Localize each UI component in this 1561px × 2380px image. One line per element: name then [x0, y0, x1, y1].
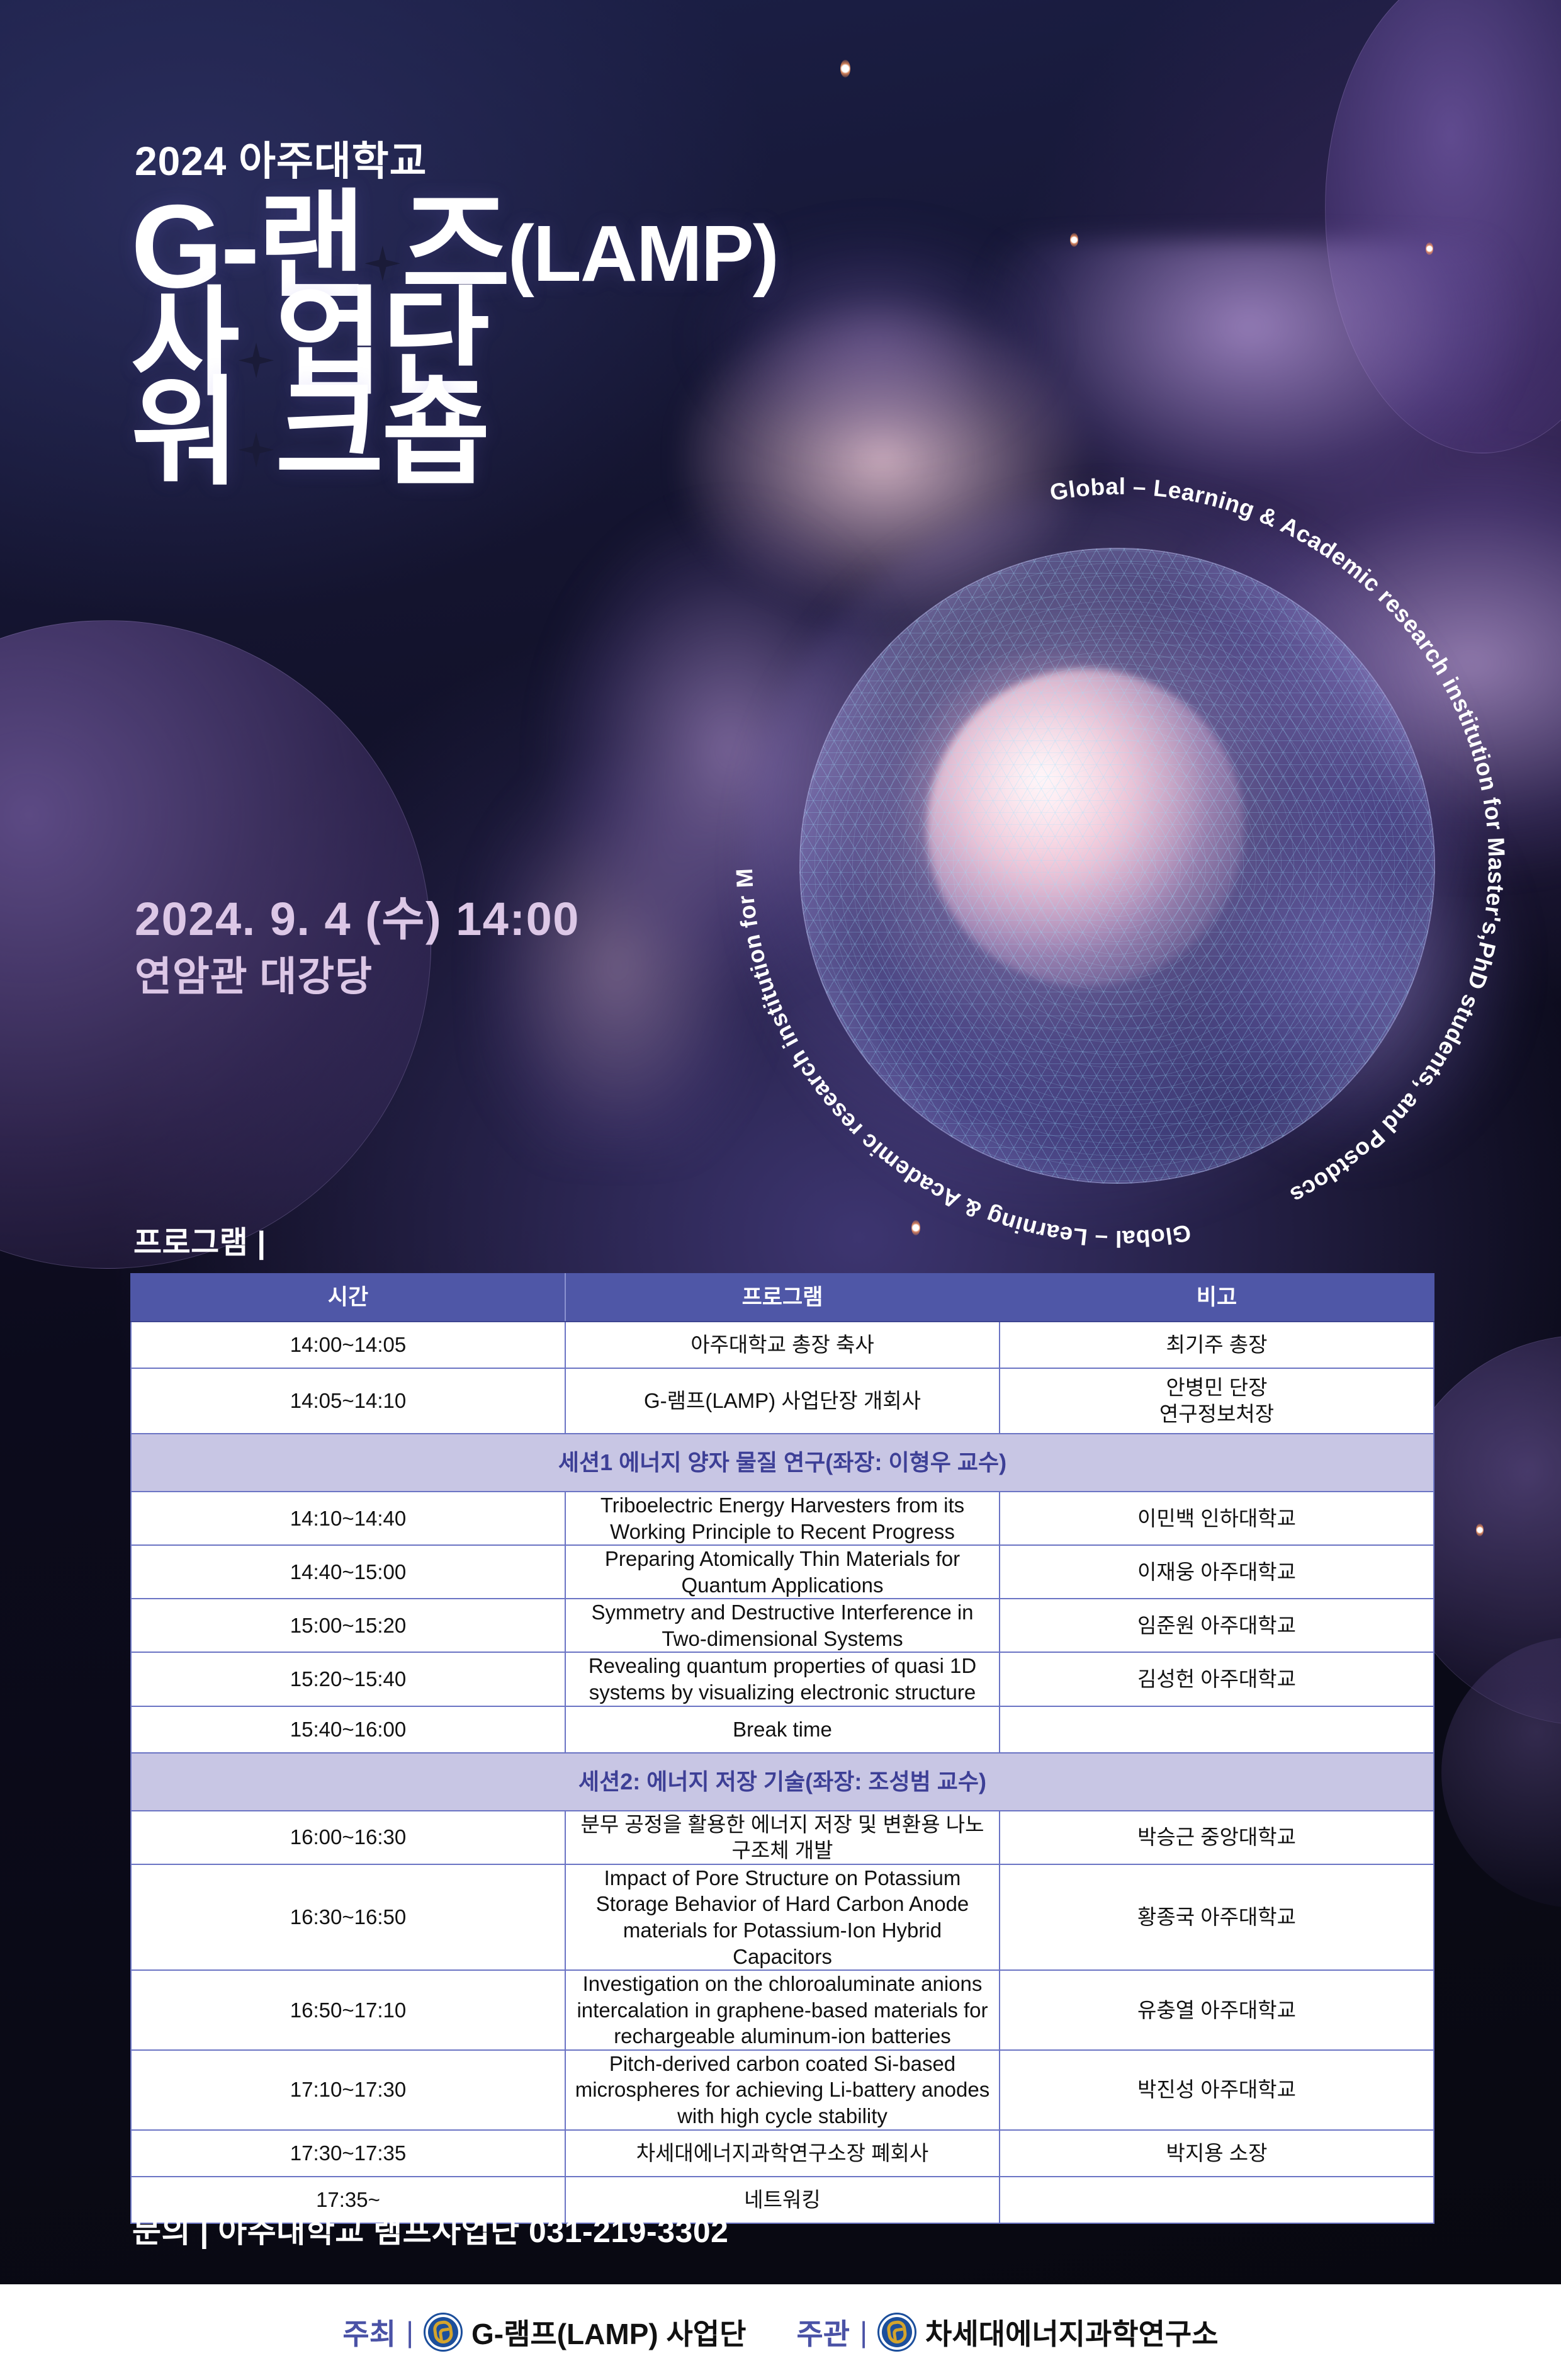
host-group: 주최 | G-램프(LAMP) 사업단: [342, 2311, 746, 2353]
program-table-head: 시간 프로그램 비고: [131, 1274, 1434, 1322]
organizer-label: 주관: [796, 2311, 850, 2353]
table-row: 15:20~15:40Revealing quantum properties …: [131, 1652, 1434, 1706]
session-header-row: 세션2: 에너지 저장 기술(좌장: 조성범 교수): [131, 1753, 1434, 1811]
table-row: 14:00~14:05아주대학교 총장 축사최기주 총장: [131, 1322, 1434, 1368]
title-line-3: 워크숍: [131, 388, 778, 477]
table-row: 17:30~17:35차세대에너지과학연구소장 폐회사박지용 소장: [131, 2130, 1434, 2177]
poster-main-title: G-랜즈(LAMP) 사업단 워크숍: [131, 201, 778, 477]
row-time: 14:00~14:05: [131, 1322, 565, 1368]
row-program: Preparing Atomically Thin Materials for …: [565, 1545, 1000, 1599]
session-header-row: 세션1 에너지 양자 물질 연구(좌장: 이형우 교수): [131, 1434, 1434, 1492]
sparkle-icon-2: [239, 343, 274, 378]
row-note: 최기주 총장: [1000, 1322, 1434, 1368]
row-program: Investigation on the chloroaluminate ani…: [565, 1970, 1000, 2050]
table-row: 15:00~15:20Symmetry and Destructive Inte…: [131, 1599, 1434, 1652]
title-line-1-lamp: (LAMP): [508, 209, 778, 298]
row-time: 16:30~16:50: [131, 1864, 565, 1970]
glint-2: [1070, 233, 1078, 247]
contact-line: 문의 | 아주대학교 램프사업단 031-219-3302: [132, 2206, 728, 2252]
table-row: 16:50~17:10Investigation on the chloroal…: [131, 1970, 1434, 2050]
table-row: 16:00~16:30분무 공정을 활용한 에너지 저장 및 변환용 나노구조체…: [131, 1811, 1434, 1864]
poster-year-line: 2024 아주대학교: [135, 129, 427, 187]
row-time: 14:10~14:40: [131, 1492, 565, 1545]
row-note: 황종국 아주대학교: [1000, 1864, 1434, 1970]
row-time: 15:40~16:00: [131, 1706, 565, 1753]
row-note: [1000, 2177, 1434, 2223]
program-table-body: 14:00~14:05아주대학교 총장 축사최기주 총장14:05~14:10G…: [131, 1322, 1434, 2223]
ajou-university-logo-icon: [424, 2313, 463, 2352]
table-row: 14:40~15:00Preparing Atomically Thin Mat…: [131, 1545, 1434, 1599]
row-time: 15:00~15:20: [131, 1599, 565, 1652]
row-time: 17:30~17:35: [131, 2130, 565, 2177]
ajou-university-logo-icon-2: [877, 2313, 916, 2352]
row-note: 김성헌 아주대학교: [1000, 1652, 1434, 1706]
glint-4: [911, 1220, 920, 1235]
row-program: 분무 공정을 활용한 에너지 저장 및 변환용 나노구조체 개발: [565, 1811, 1000, 1864]
program-section-label: 프로그램 |: [133, 1218, 266, 1262]
table-row: 16:30~16:50Impact of Pore Structure on P…: [131, 1864, 1434, 1970]
sparkle-icon-1: [365, 246, 400, 281]
sphere-rim: [799, 548, 1435, 1184]
row-note: 안병민 단장연구정보처장: [1000, 1368, 1434, 1434]
row-note: 이민백 인하대학교: [1000, 1492, 1434, 1545]
table-row: 14:10~14:40Triboelectric Energy Harveste…: [131, 1492, 1434, 1545]
row-note: 유충열 아주대학교: [1000, 1970, 1434, 2050]
row-program: G-램프(LAMP) 사업단장 개회사: [565, 1368, 1000, 1434]
table-row: 15:40~16:00Break time: [131, 1706, 1434, 1753]
program-table: 시간 프로그램 비고 14:00~14:05아주대학교 총장 축사최기주 총장1…: [130, 1273, 1434, 2224]
host-divider: |: [406, 2315, 414, 2349]
row-note: 박진성 아주대학교: [1000, 2050, 1434, 2130]
column-header-note: 비고: [1000, 1274, 1434, 1322]
program-table-header-row: 시간 프로그램 비고: [131, 1274, 1434, 1322]
row-time: 16:50~17:10: [131, 1970, 565, 2050]
session-header-title: 세션1 에너지 양자 물질 연구(좌장: 이형우 교수): [131, 1434, 1434, 1492]
glint-3: [1426, 242, 1433, 255]
wireframe-sphere-graphic: [799, 548, 1435, 1184]
column-header-program: 프로그램: [565, 1274, 1000, 1322]
sparkle-icon-3: [239, 432, 274, 467]
row-program: Triboelectric Energy Harvesters from its…: [565, 1492, 1000, 1545]
event-venue: 연암관 대강당: [135, 944, 373, 1002]
row-time: 14:40~15:00: [131, 1545, 565, 1599]
row-time: 15:20~15:40: [131, 1652, 565, 1706]
sphere-body: [799, 548, 1435, 1184]
poster-footer: 주최 | G-램프(LAMP) 사업단 주관 | 차세대에너지과학연구소: [0, 2284, 1561, 2380]
row-time: 17:10~17:30: [131, 2050, 565, 2130]
row-note: 이재웅 아주대학교: [1000, 1545, 1434, 1599]
row-program: Impact of Pore Structure on Potassium St…: [565, 1864, 1000, 1970]
organizer-group: 주관 | 차세대에너지과학연구소: [796, 2311, 1218, 2353]
event-datetime: 2024. 9. 4 (수) 14:00: [135, 881, 580, 949]
host-name: G-램프(LAMP) 사업단: [471, 2311, 746, 2353]
row-note: [1000, 1706, 1434, 1753]
row-time: 16:00~16:30: [131, 1811, 565, 1864]
organizer-name: 차세대에너지과학연구소: [925, 2311, 1219, 2353]
host-label: 주최: [342, 2311, 396, 2353]
glint-1: [840, 60, 850, 77]
row-program: Revealing quantum properties of quasi 1D…: [565, 1652, 1000, 1706]
row-program: 아주대학교 총장 축사: [565, 1322, 1000, 1368]
glint-5: [1476, 1524, 1484, 1536]
row-program: Break time: [565, 1706, 1000, 1753]
row-program: 차세대에너지과학연구소장 폐회사: [565, 2130, 1000, 2177]
row-program: Symmetry and Destructive Interference in…: [565, 1599, 1000, 1652]
poster-canvas: Global – Learning & Academic research in…: [0, 0, 1561, 2380]
table-row: 14:05~14:10G-램프(LAMP) 사업단장 개회사안병민 단장연구정보…: [131, 1368, 1434, 1434]
table-row: 17:10~17:30Pitch-derived carbon coated S…: [131, 2050, 1434, 2130]
organizer-divider: |: [860, 2315, 867, 2349]
row-note: 박지용 소장: [1000, 2130, 1434, 2177]
row-program: Pitch-derived carbon coated Si-based mic…: [565, 2050, 1000, 2130]
column-header-time: 시간: [131, 1274, 565, 1322]
session-header-title: 세션2: 에너지 저장 기술(좌장: 조성범 교수): [131, 1753, 1434, 1811]
row-note: 박승근 중앙대학교: [1000, 1811, 1434, 1864]
row-note: 임준원 아주대학교: [1000, 1599, 1434, 1652]
row-time: 14:05~14:10: [131, 1368, 565, 1434]
